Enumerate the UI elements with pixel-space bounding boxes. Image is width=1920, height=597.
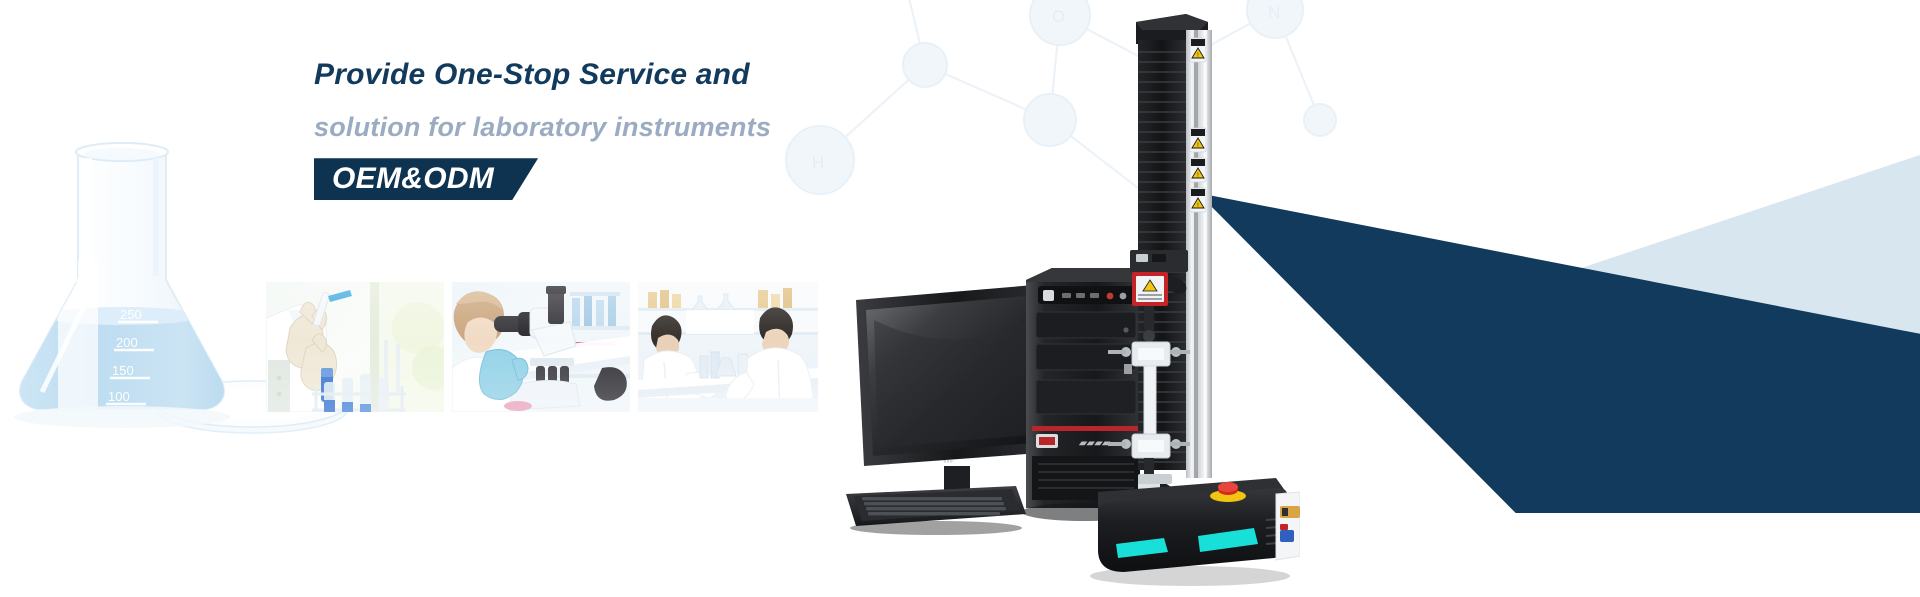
photo-lab-bench bbox=[638, 282, 818, 412]
photo-pipetting bbox=[266, 282, 444, 412]
universal-tensile-testing-machine: ! ! ! ! bbox=[1080, 0, 1300, 597]
control-panel bbox=[1276, 492, 1300, 560]
photo-microscope bbox=[452, 282, 630, 412]
warning-label-2: ! bbox=[1190, 128, 1206, 152]
erlenmeyer-flask: 250 200 150 100 ml bbox=[10, 143, 240, 420]
lcd-monitor: ◦◦◦ bbox=[856, 284, 1054, 518]
oem-odm-badge: OEM&ODM bbox=[314, 158, 538, 200]
svg-text:◦◦◦: ◦◦◦ bbox=[943, 456, 953, 466]
lab-photo-strip bbox=[266, 282, 818, 412]
svg-text:100: 100 bbox=[108, 389, 130, 404]
svg-text:250: 250 bbox=[120, 307, 142, 322]
machine-base bbox=[1090, 474, 1300, 586]
warning-label-3: ! bbox=[1190, 158, 1206, 182]
hero-banner: H O N bbox=[0, 0, 1920, 597]
svg-text:150: 150 bbox=[112, 363, 134, 378]
svg-text:200: 200 bbox=[116, 335, 138, 350]
warning-label-4: ! bbox=[1190, 188, 1206, 212]
warning-label-1: ! bbox=[1190, 38, 1206, 62]
keyboard bbox=[846, 486, 1026, 535]
